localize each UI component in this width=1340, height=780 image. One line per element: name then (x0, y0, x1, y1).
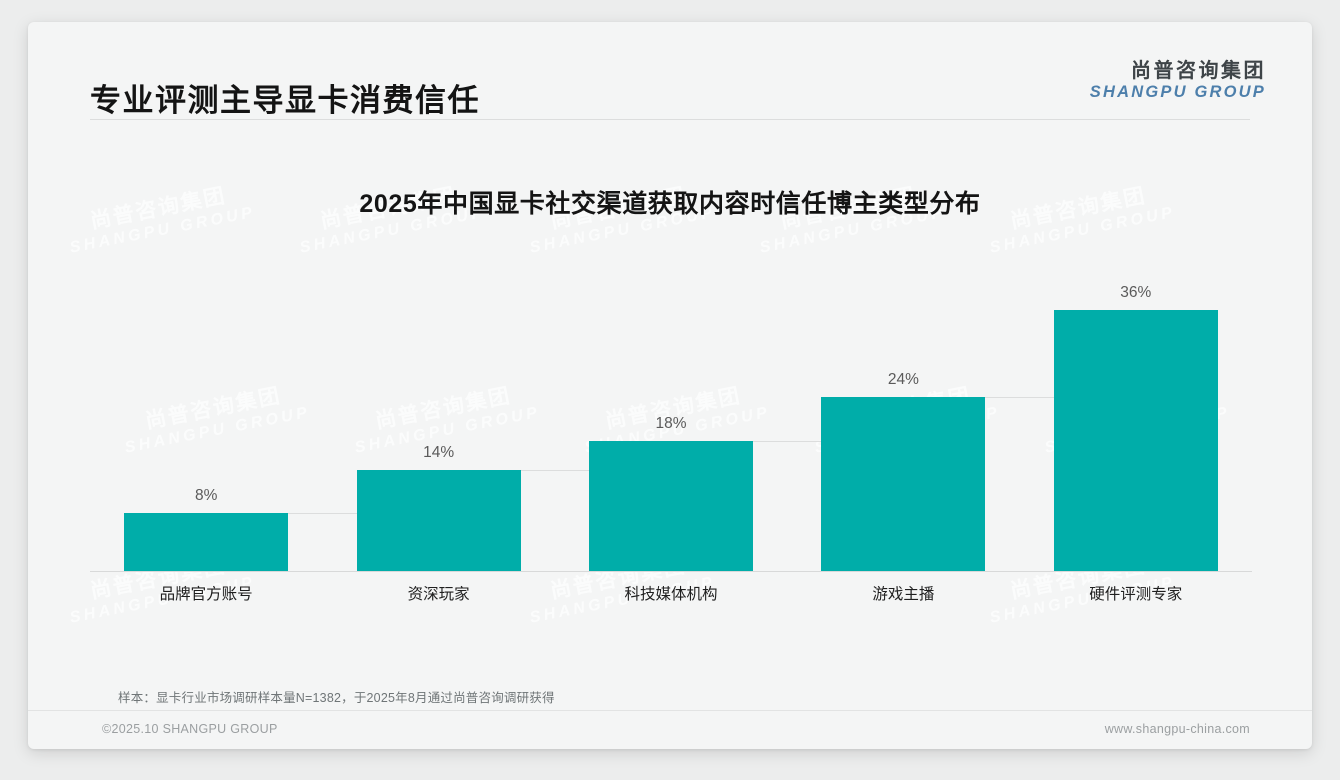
category-label-1: 品牌官方账号 (96, 582, 316, 604)
page-title: 专业评测主导显卡消费信任 (90, 75, 480, 120)
category-label-3: 科技媒体机构 (561, 582, 781, 604)
chart-title: 2025年中国显卡社交渠道获取内容时信任博主类型分布 (28, 184, 1312, 220)
source-footnote: 样本：显卡行业市场调研样本量N=1382，于2025年8月通过尚普咨询调研获得 (118, 687, 555, 706)
header-divider (90, 119, 1250, 120)
bar-value-label-2: 14% (379, 444, 499, 462)
chart-baseline-axis (90, 571, 1252, 572)
copyright-text: ©2025.10 SHANGPU GROUP (102, 722, 278, 736)
slide-footer: ©2025.10 SHANGPU GROUP www.shangpu-china… (28, 710, 1312, 749)
bar-value-label-4: 24% (843, 371, 963, 389)
category-label-2: 资深玩家 (329, 582, 549, 604)
category-label-4: 游戏主播 (793, 582, 1013, 604)
bar-1[interactable] (124, 513, 288, 571)
step-connector-line (985, 397, 1053, 398)
category-label-5: 硬件评测专家 (1026, 582, 1246, 604)
screenshot-root: 尚普咨询集团SHANGPU GROUP尚普咨询集团SHANGPU GROUP尚普… (0, 0, 1340, 780)
bar-value-label-1: 8% (146, 487, 266, 505)
bar-3[interactable] (589, 441, 753, 572)
step-connector-line (288, 513, 356, 514)
bar-value-label-3: 18% (611, 415, 731, 433)
brand-logo: 尚普咨询集团 SHANGPU GROUP (1090, 60, 1266, 102)
logo-chinese-text: 尚普咨询集团 (1090, 60, 1266, 82)
bar-value-label-5: 36% (1076, 284, 1196, 302)
step-connector-line (753, 441, 821, 442)
website-text: www.shangpu-china.com (1105, 722, 1250, 736)
slide-card: 尚普咨询集团SHANGPU GROUP尚普咨询集团SHANGPU GROUP尚普… (28, 22, 1312, 749)
logo-english-text: SHANGPU GROUP (1090, 83, 1266, 101)
bar-2[interactable] (357, 470, 521, 572)
step-connector-line (521, 470, 589, 471)
bar-4[interactable] (821, 397, 985, 571)
bar-5[interactable] (1054, 310, 1218, 571)
watermark-text: 尚普咨询集团SHANGPU GROUP (119, 379, 312, 458)
slide-header: 专业评测主导显卡消费信任 尚普咨询集团 SHANGPU GROUP (28, 22, 1312, 119)
